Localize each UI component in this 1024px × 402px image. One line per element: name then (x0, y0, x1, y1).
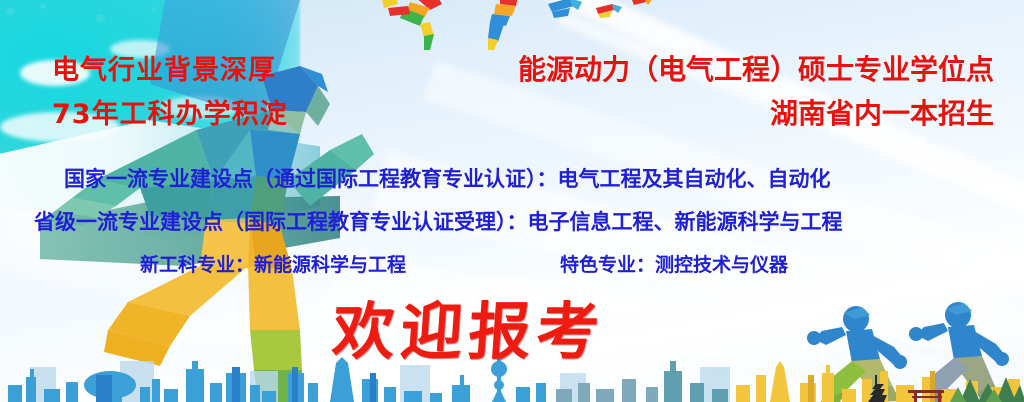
body-line-national-first-class-major: 国家一流专业建设点（通过国际工程教育专业认证）：电气工程及其自动化、自动化 (64, 163, 831, 193)
headline-right-line1: 能源动力（电气工程）硕士专业学位点 (518, 48, 994, 88)
headline-left-line1: 电气行业背景深厚 (52, 48, 276, 87)
body-line-featured-major: 特色专业：测控技术与仪器 (560, 250, 788, 277)
headline-left-line2: 73年工科办学积淀 (52, 92, 288, 131)
body-line-provincial-first-class-major: 省级一流专业建设点（国际工程教育专业认证受理）：电子信息工程、新能源科学与工程 (34, 206, 843, 236)
headline-right-line2: 湖南省内一本招生 (770, 92, 994, 132)
admissions-banner: 电气行业背景深厚 73年工科办学积淀 能源动力（电气工程）硕士专业学位点 湖南省… (0, 0, 1024, 402)
body-line-new-engineering-major: 新工科专业：新能源科学与工程 (140, 250, 406, 277)
welcome-slogan: 欢迎报考 (330, 281, 608, 371)
